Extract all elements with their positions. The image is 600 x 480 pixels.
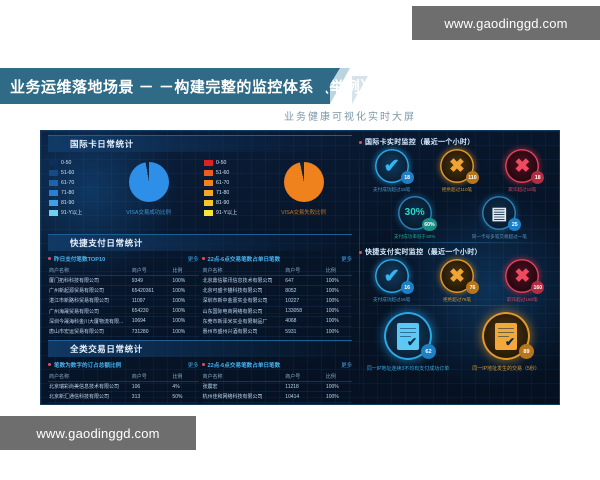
dashboard-right-column: 国际卡实时监控（最近一个小时） ✔ 18 支付成功超过18笔 ✖ 110 (359, 135, 555, 400)
dashboard-canvas: 国际卡日常统计 0-50 51-60 61-70 71-80 81-90 91-… (40, 130, 560, 405)
cell-id: 9349 (131, 276, 172, 286)
cell-name: 广州新起源贸易有限公司 (48, 286, 131, 296)
legend-label: 71-80 (61, 190, 74, 196)
table-row[interactable]: 深圳今晟海科金川大厦物流有限...10694100% (48, 316, 199, 326)
status-badge: 76 (466, 281, 479, 294)
table-row[interactable]: 北京新汇通信科技有限公司31350% (48, 392, 199, 402)
cross-icon[interactable]: ✖ 110 (440, 149, 474, 183)
table-header-left: 22点-6点交易笔数占单日笔数 (202, 361, 281, 369)
cell-name: 深圳今晟海科金川大厦物流有限... (48, 316, 131, 326)
legend-label: 81-90 (216, 200, 229, 206)
column-header: 商户号 (131, 372, 172, 382)
monitor-item-label: 支付成功超过16笔 (373, 297, 410, 303)
more-link[interactable]: 更多 (341, 255, 352, 263)
pie-caption-success: VISA交易成功比例 (126, 208, 171, 216)
monitor-item[interactable]: ✔ 62 同一IP地址连续3不均有支付成功订单 (364, 312, 452, 372)
data-table-night-count: 商户名称 商户号 比例 张震宏11218100% 杭州佳和网络科技有限公司104… (202, 372, 353, 405)
pie-chart-block: 0-50 51-60 61-70 71-80 81-90 91-Y以上 VISA… (45, 154, 355, 234)
monitor-item-label: 欺诈超过160笔 (507, 297, 538, 303)
pie-wrap-fail: VISA交易失败比例 (252, 158, 355, 216)
column-header: 商户号 (284, 372, 325, 382)
cell-ratio: 4% (171, 382, 198, 392)
monitor-item-label: 同一IP地址发生的交易（5秒） (472, 365, 540, 372)
table-row[interactable]: 北京瑞彩尚美信息技术有限公司1064% (48, 382, 199, 392)
legend-label: 0-50 (61, 160, 71, 166)
cell-id: 4068 (284, 316, 325, 326)
table-row[interactable]: 贵州省瑞兴经贸有限公司652086100% (202, 402, 353, 405)
table-block-quick-pay-daily: 昨日支付笔数TOP10 更多 商户名称 商户号 比例 厦门拓科科技有限公司934… (48, 253, 199, 337)
bullet-dot-icon (359, 251, 362, 254)
more-link[interactable]: 更多 (188, 361, 199, 369)
monitor-item-label: 拒绝超过110笔 (442, 187, 472, 193)
cell-id: 731280 (131, 326, 172, 336)
status-badge: 60% (422, 218, 436, 231)
table-row[interactable]: 北京圣欣网络系统技术有限公司334100% (48, 402, 199, 405)
table-head-row: 商户名称 商户号 比例 (202, 266, 353, 276)
table-row-upper: 昨日支付笔数TOP10 更多 商户名称 商户号 比例 厦门拓科科技有限公司934… (45, 253, 355, 337)
monitor-header: 快捷支付实时监控（最近一个小时） (359, 245, 555, 259)
cell-name: 唐山市宏运贸易有限公司 (48, 326, 131, 336)
status-badge: 110 (466, 171, 479, 184)
legend-label: 0-50 (216, 160, 226, 166)
cell-id: 65420361 (131, 286, 172, 296)
column-header: 商户名称 (202, 266, 285, 276)
cell-name: 北京瑞彩尚美信息技术有限公司 (48, 382, 131, 392)
cell-id: 106 (131, 382, 172, 392)
cell-name: 贵州省瑞兴经贸有限公司 (202, 402, 285, 405)
table-row[interactable]: 湛江市新路科贸易有限公司11097100% (48, 296, 199, 306)
pie-panel-success: 0-50 51-60 61-70 71-80 81-90 91-Y以上 VISA… (45, 154, 200, 234)
percent-glyph: 30% (405, 208, 425, 218)
legend-swatch (204, 170, 213, 176)
legend-item: 61-70 (204, 178, 252, 187)
monitor-item[interactable]: 30% 60% 支付成功率低于30% (386, 196, 444, 240)
legend-swatch (49, 190, 58, 196)
document-check-icon[interactable]: ✔ 62 (384, 312, 432, 360)
legend-label: 61-70 (61, 180, 74, 186)
column-header: 商户名称 (48, 266, 131, 276)
table-title: 22点-6点交易笔数占单日笔数 (208, 361, 281, 369)
pie-caption-fail: VISA交易失败比例 (281, 208, 326, 216)
table-row[interactable]: 杭州佳和网络科技有限公司10414100% (202, 392, 353, 402)
pie-chart-visa-fail (284, 162, 324, 202)
table-row[interactable]: 唐山市宏运贸易有限公司731280100% (48, 326, 199, 336)
panel-divider (361, 305, 553, 306)
pie-wrap-success: VISA交易成功比例 (97, 158, 200, 216)
monitor-panel-quick-pay: 快捷支付实时监控（最近一个小时） ✔ 16 支付成功超过16笔 ✖ 76 (359, 245, 555, 303)
legend-label: 81-90 (61, 200, 74, 206)
monitor-item-label: 拒绝超过76笔 (443, 297, 471, 303)
percent-icon[interactable]: 30% 60% (398, 196, 432, 230)
legend-swatch (49, 210, 58, 216)
slide-title-banner: 业务运维落地场景 － －构建完整的监控体系（举例） (0, 68, 330, 104)
page-subtitle: 业务健康可视化实时大屏 (250, 108, 450, 123)
cross-icon[interactable]: ✖ 160 (505, 259, 539, 293)
cell-id: 647 (284, 276, 325, 286)
table-row[interactable]: 山东国际电商网络有限公司133058100% (202, 306, 353, 316)
table-title: 22点-6点交易笔数占单日笔数 (208, 255, 281, 263)
monitor-item[interactable]: ✔ 16 支付成功超过16笔 (363, 259, 421, 303)
table-header-left: 昨日支付笔数TOP10 (48, 255, 105, 263)
legend-item: 61-70 (49, 178, 97, 187)
document-check-icon[interactable]: ✔ 89 (482, 312, 530, 360)
monitor-item-label: 同一卡号多笔交易超过一笔 (472, 234, 527, 240)
pie-legend-fail: 0-50 51-60 61-70 71-80 81-90 91-Y以上 (200, 158, 252, 218)
table-row[interactable]: 深圳市新中金嘉实业有限公司10227100% (202, 296, 353, 306)
ip-monitor-row: ✔ 62 同一IP地址连续3不均有支付成功订单 ✔ (359, 308, 555, 372)
cell-id: 10414 (284, 392, 325, 402)
legend-swatch (49, 200, 58, 206)
cell-id: 8052 (284, 286, 325, 296)
cell-id: 10227 (284, 296, 325, 306)
legend-item: 81-90 (204, 198, 252, 207)
section-header-intl-card: 国际卡日常统计 (48, 135, 352, 152)
legend-label: 51-60 (216, 170, 229, 176)
more-link[interactable]: 更多 (341, 361, 352, 369)
section-header-all-trade: 全类交易日常统计 (48, 340, 352, 357)
cell-ratio: 100% (171, 286, 198, 296)
cell-name: 广州海晟贸易有限公司 (48, 306, 131, 316)
cell-ratio: 100% (325, 276, 352, 286)
monitor-icon-row: ✔ 16 支付成功超过16笔 ✖ 76 拒绝超过76笔 (359, 259, 555, 303)
legend-item: 71-80 (49, 188, 97, 197)
monitor-item[interactable]: ✖ 160 欺诈超过160笔 (493, 259, 551, 303)
card-glyph: ▤ (491, 205, 507, 222)
column-header: 比例 (325, 372, 352, 382)
section-title-all-trade: 全类交易日常统计 (48, 343, 143, 355)
legend-item: 71-80 (204, 188, 252, 197)
table-row[interactable]: 厦门拓科科技有限公司9349100% (48, 276, 199, 286)
cell-id: 133058 (284, 306, 325, 316)
cell-ratio: 100% (325, 286, 352, 296)
table-row[interactable]: 北京可盛卡猫科技有限公司8052100% (202, 286, 353, 296)
status-badge: 18 (531, 171, 544, 184)
cell-id: 10694 (131, 316, 172, 326)
status-badge: 89 (519, 344, 534, 359)
status-badge: 160 (531, 281, 544, 294)
cell-id: 313 (131, 392, 172, 402)
table-row[interactable]: 惠州市盛州兴酒有限公司5931100% (202, 326, 353, 336)
status-badge: 25 (508, 218, 521, 231)
monitor-item[interactable]: ✖ 76 拒绝超过76笔 (428, 259, 486, 303)
cell-name: 深圳市新中金嘉实业有限公司 (202, 296, 285, 306)
status-badge: 62 (421, 344, 436, 359)
more-link[interactable]: 更多 (188, 255, 199, 263)
column-header: 商户号 (284, 266, 325, 276)
column-header: 比例 (171, 372, 198, 382)
cell-ratio: 100% (171, 316, 198, 326)
cross-glyph: ✖ (449, 267, 465, 286)
cell-ratio: 100% (325, 316, 352, 326)
monitor-item-label: 支付成功率低于30% (394, 234, 435, 240)
cell-name: 湛江市新路科贸易有限公司 (48, 296, 131, 306)
cell-ratio: 100% (171, 326, 198, 336)
column-header: 比例 (325, 266, 352, 276)
bullet-dot-icon (202, 363, 205, 366)
table-header-bar: 昨日支付笔数TOP10 更多 (48, 253, 199, 264)
table-header-bar: 笔数为数字的订占总额比例 更多 (48, 359, 199, 370)
cross-glyph: ✖ (514, 267, 530, 286)
cross-icon[interactable]: ✖ 18 (505, 149, 539, 183)
monitor-item-label: 同一IP地址连续3不均有支付成功订单 (367, 365, 450, 372)
monitor-icon-row-bottom: 30% 60% 支付成功率低于30% ▤ 25 同一卡号多笔交易超过一笔 (359, 196, 555, 240)
table-row[interactable]: 北京鼎信联讯信息技术有限公司647100% (202, 276, 353, 286)
legend-item: 51-60 (204, 168, 252, 177)
cell-name: 北京鼎信联讯信息技术有限公司 (202, 276, 285, 286)
cell-id: 11097 (131, 296, 172, 306)
table-head-row: 商户名称 商户号 比例 (48, 372, 199, 382)
section-header-quick-pay: 快捷支付日常统计 (48, 234, 352, 251)
cell-name: 杭州佳和网络科技有限公司 (202, 392, 285, 402)
cell-name: 北京可盛卡猫科技有限公司 (202, 286, 285, 296)
cell-ratio: 100% (325, 306, 352, 316)
legend-swatch (49, 170, 58, 176)
column-header: 商户号 (131, 266, 172, 276)
table-header-bar: 22点-6点交易笔数占单日笔数 更多 (202, 359, 353, 370)
check-glyph: ✔ (384, 157, 400, 176)
legend-item: 81-90 (49, 198, 97, 207)
legend-swatch (204, 190, 213, 196)
cross-glyph: ✖ (514, 157, 530, 176)
cell-name: 东莞市新泽米实业有限制品厂 (202, 316, 285, 326)
legend-item: 0-50 (204, 158, 252, 167)
cell-ratio: 50% (171, 392, 198, 402)
cell-name: 北京新汇通信科技有限公司 (48, 392, 131, 402)
table-block-night-count: 22点-6点交易笔数占单日笔数 更多 商户名称 商户号 比例 张震宏112181… (202, 359, 353, 405)
table-header-bar: 22点-6点交易笔数占单日笔数 更多 (202, 253, 353, 264)
column-header: 商户名称 (48, 372, 131, 382)
monitor-item[interactable]: ✔ 89 同一IP地址发生的交易（5秒） (462, 312, 550, 372)
cell-ratio: 100% (325, 296, 352, 306)
cell-ratio: 100% (325, 382, 352, 392)
legend-swatch (204, 160, 213, 166)
doc-line (400, 332, 416, 334)
bullet-dot-icon (48, 257, 51, 260)
legend-swatch (204, 210, 213, 216)
table-row[interactable]: 广州海晟贸易有限公司654230100% (48, 306, 199, 316)
legend-item: 91-Y以上 (204, 208, 252, 217)
doc-line (498, 332, 514, 334)
document-shape: ✔ (495, 323, 517, 350)
column-header: 比例 (171, 266, 198, 276)
check-icon[interactable]: ✔ 18 (375, 149, 409, 183)
monitor-item-label: 欺诈超过18笔 (508, 187, 536, 193)
bullet-dot-icon (359, 141, 362, 144)
data-table-night-success: 商户名称 商户号 比例 北京鼎信联讯信息技术有限公司647100% 北京可盛卡猫… (202, 266, 353, 337)
table-row[interactable]: 东莞市新泽米实业有限制品厂4068100% (202, 316, 353, 326)
cross-glyph: ✖ (449, 157, 465, 176)
cell-ratio: 100% (171, 296, 198, 306)
cell-id: 654230 (131, 306, 172, 316)
legend-label: 61-70 (216, 180, 229, 186)
table-block-low-ratio: 笔数为数字的订占总额比例 更多 商户名称 商户号 比例 北京瑞彩尚美信息技术有限… (48, 359, 199, 405)
table-title: 笔数为数字的订占总额比例 (54, 361, 121, 369)
cell-ratio: 100% (325, 392, 352, 402)
check-glyph: ✔ (384, 267, 400, 286)
cell-name: 北京圣欣网络系统技术有限公司 (48, 402, 131, 405)
document-shape: ✔ (397, 323, 419, 350)
check-mark-icon: ✔ (407, 336, 417, 348)
cell-ratio: 100% (171, 402, 198, 405)
legend-swatch (49, 180, 58, 186)
check-mark-icon: ✔ (505, 336, 515, 348)
table-row-lower: 笔数为数字的订占总额比例 更多 商户名称 商户号 比例 北京瑞彩尚美信息技术有限… (45, 359, 355, 405)
monitor-icon-row-top: ✔ 18 支付成功超过18笔 ✖ 110 拒绝超过110笔 (359, 149, 555, 193)
table-row[interactable]: 广州新起源贸易有限公司65420361100% (48, 286, 199, 296)
cell-ratio: 100% (325, 402, 352, 405)
monitor-item[interactable]: ✖ 18 欺诈超过18笔 (493, 149, 551, 193)
bullet-dot-icon (202, 257, 205, 260)
table-header-left: 22点-6点交易笔数占单日笔数 (202, 255, 281, 263)
cell-name: 惠州市盛州兴酒有限公司 (202, 326, 285, 336)
monitor-item[interactable]: ▤ 25 同一卡号多笔交易超过一笔 (470, 196, 528, 240)
pie-chart-visa-success (129, 162, 169, 202)
pie-legend-success: 0-50 51-60 61-70 71-80 81-90 91-Y以上 (45, 158, 97, 218)
panel-divider (361, 242, 553, 243)
legend-swatch (49, 160, 58, 166)
card-icon[interactable]: ▤ 25 (482, 196, 516, 230)
table-header-left: 笔数为数字的订占总额比例 (48, 361, 121, 369)
data-table-low-ratio: 商户名称 商户号 比例 北京瑞彩尚美信息技术有限公司1064% 北京新汇通信科技… (48, 372, 199, 405)
cell-id: 11218 (284, 382, 325, 392)
table-head-row: 商户名称 商户号 比例 (202, 372, 353, 382)
table-head-row: 商户名称 商户号 比例 (48, 266, 199, 276)
legend-label: 71-80 (216, 190, 229, 196)
cell-id: 5931 (284, 326, 325, 336)
table-row[interactable]: 张震宏11218100% (202, 382, 353, 392)
monitor-panel-ip: ✔ 62 同一IP地址连续3不均有支付成功订单 ✔ (359, 308, 555, 372)
slide-root: www.gaodinggd.com www.gaodinggd.com 业务运维… (0, 0, 600, 480)
monitor-title: 快捷支付实时监控（最近一个小时） (365, 247, 482, 257)
check-icon[interactable]: ✔ 16 (375, 259, 409, 293)
legend-item: 0-50 (49, 158, 97, 167)
monitor-item[interactable]: ✖ 110 拒绝超过110笔 (428, 149, 486, 193)
dashboard-left-column: 国际卡日常统计 0-50 51-60 61-70 71-80 81-90 91-… (45, 135, 355, 400)
legend-item: 91-Y以上 (49, 208, 97, 217)
monitor-header: 国际卡实时监控（最近一个小时） (359, 135, 555, 149)
cell-id: 652086 (284, 402, 325, 405)
table-block-night-success: 22点-6点交易笔数占单日笔数 更多 商户名称 商户号 比例 北京鼎信联讯信息技… (202, 253, 353, 337)
monitor-panel-intl-card: 国际卡实时监控（最近一个小时） ✔ 18 支付成功超过18笔 ✖ 110 (359, 135, 555, 240)
monitor-title: 国际卡实时监控（最近一个小时） (365, 137, 475, 147)
watermark-bottom: www.gaodinggd.com (0, 416, 196, 450)
status-badge: 16 (401, 281, 414, 294)
data-table-quick-pay-daily: 商户名称 商户号 比例 厦门拓科科技有限公司9349100% 广州新起源贸易有限… (48, 266, 199, 337)
pie-panel-fail: 0-50 51-60 61-70 71-80 81-90 91-Y以上 VISA… (200, 154, 355, 234)
legend-label: 51-60 (61, 170, 74, 176)
cell-name: 厦门拓科科技有限公司 (48, 276, 131, 286)
monitor-item-label: 支付成功超过18笔 (373, 187, 410, 193)
cell-id: 334 (131, 402, 172, 405)
cell-name: 张震宏 (202, 382, 285, 392)
section-title-intl-card: 国际卡日常统计 (48, 138, 134, 150)
bullet-dot-icon (48, 363, 51, 366)
legend-swatch (204, 180, 213, 186)
legend-swatch (204, 200, 213, 206)
cell-name: 山东国际电商网络有限公司 (202, 306, 285, 316)
watermark-top: www.gaodinggd.com (412, 6, 600, 40)
legend-label: 91-Y以上 (216, 209, 237, 216)
column-header: 商户名称 (202, 372, 285, 382)
banner-notch (318, 68, 340, 104)
legend-item: 51-60 (49, 168, 97, 177)
legend-label: 91-Y以上 (61, 209, 82, 216)
doc-line (400, 328, 416, 330)
section-title-quick-pay: 快捷支付日常统计 (48, 237, 143, 249)
monitor-item[interactable]: ✔ 18 支付成功超过18笔 (363, 149, 421, 193)
status-badge: 18 (401, 171, 414, 184)
cell-ratio: 100% (171, 276, 198, 286)
doc-line (498, 328, 514, 330)
cell-ratio: 100% (171, 306, 198, 316)
table-title: 昨日支付笔数TOP10 (54, 255, 105, 263)
cross-icon[interactable]: ✖ 76 (440, 259, 474, 293)
cell-ratio: 100% (325, 326, 352, 336)
